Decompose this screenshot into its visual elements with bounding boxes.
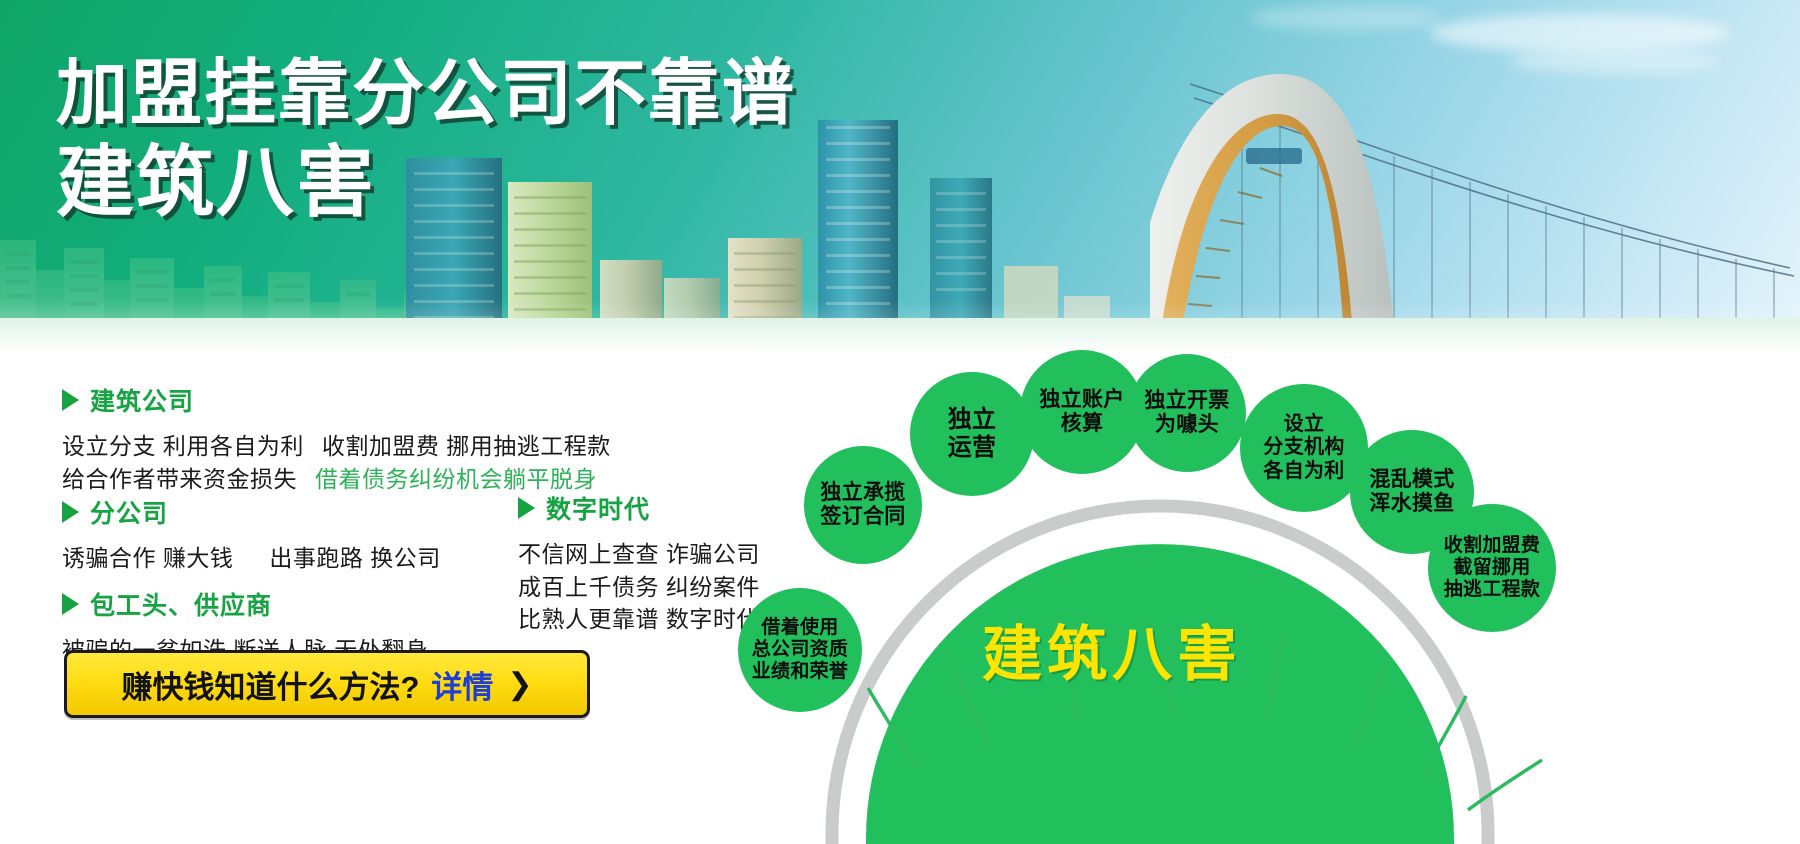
bubble-independent-account[interactable]: 独立账户 核算 (1020, 350, 1144, 474)
body-text-b: 收割加盟费 挪用抽逃工程款 (322, 433, 611, 459)
section-header: 包工头、供应商 (62, 586, 428, 622)
section-title: 建筑公司 (90, 382, 194, 418)
section-header: 分公司 (62, 494, 441, 530)
body-text-a: 诱骗合作 赚大钱 (62, 545, 233, 571)
section-body: 设立分支 利用各自为利收割加盟费 挪用抽逃工程款 给合作者带来资金损失借着债务纠… (62, 430, 611, 495)
bubble-line: 独立 (948, 406, 997, 434)
bubble-line: 独立开票 (1144, 389, 1229, 413)
bubble-line: 分支机构 (1263, 436, 1344, 459)
bubble-line: 总公司资质 (752, 639, 849, 661)
section-construction-company: 建筑公司 设立分支 利用各自为利收割加盟费 挪用抽逃工程款 给合作者带来资金损失… (62, 382, 611, 495)
bubble-line: 独立账户 (1039, 388, 1124, 412)
cta-button[interactable]: 赚快钱知道什么方法? 详情 ❯ (64, 650, 590, 718)
bubble-line: 签订合同 (820, 505, 905, 529)
body-line: 诱骗合作 赚大钱出事跑路 换公司 (62, 542, 441, 575)
section-title: 分公司 (90, 494, 168, 530)
bubble-line: 各自为利 (1263, 460, 1344, 483)
bubble-line: 截留挪用 (1444, 557, 1541, 579)
cloud-shape (1250, 6, 1440, 30)
bubble-line: 独立承揽 (820, 481, 905, 505)
section-body: 不信网上查查 诈骗公司 成百上千债务 纠纷案件 比熟人更靠谱 数字时代 (518, 538, 760, 636)
dome-center-label: 建筑八害 (982, 606, 1242, 693)
bubble-line: 为噱头 (1144, 413, 1229, 437)
section-body: 诱骗合作 赚大钱出事跑路 换公司 (62, 542, 441, 575)
cta-link-label[interactable]: 详情 (431, 662, 493, 707)
left-content-column: 建筑公司 设立分支 利用各自为利收割加盟费 挪用抽逃工程款 给合作者带来资金损失… (0, 382, 830, 844)
bubble-line: 核算 (1039, 412, 1124, 436)
bubble-harvest-fees[interactable]: 收割加盟费 截留挪用 抽逃工程款 (1428, 504, 1556, 632)
bubble-borrow-credentials[interactable]: 借着使用 总公司资质 业绩和荣誉 (738, 588, 862, 712)
hero-banner: 加盟挂靠分公司不靠谱 建筑八害 (0, 0, 1800, 370)
bubble-set-up-branch[interactable]: 设立 分支机构 各自为利 (1240, 384, 1368, 512)
chevron-right-icon: ❯ (507, 667, 532, 702)
bubble-line: 业绩和荣誉 (752, 661, 849, 683)
body-line: 设立分支 利用各自为利收割加盟费 挪用抽逃工程款 (62, 430, 611, 463)
section-title: 数字时代 (546, 490, 650, 526)
bubble-diagram: 借着使用 总公司资质 业绩和荣誉 独立承揽 签订合同 独立 运营 独立账户 核算 (820, 340, 1800, 844)
bubble-line: 设立 (1263, 413, 1344, 436)
triangle-bullet-icon (518, 497, 535, 519)
page-title: 加盟挂靠分公司不靠谱 建筑八害 (56, 58, 796, 223)
poster-root: 加盟挂靠分公司不靠谱 建筑八害 建筑公司 设立分支 利用各自为利收割加盟费 挪用… (0, 0, 1800, 844)
section-header: 建筑公司 (62, 382, 611, 418)
bubble-line: 混乱模式 (1369, 468, 1454, 492)
triangle-bullet-icon (62, 501, 79, 523)
cloud-shape (1430, 14, 1730, 52)
cta-label: 赚快钱知道什么方法? (121, 662, 419, 707)
bubble-independent-invoice[interactable]: 独立开票 为噱头 (1128, 354, 1246, 472)
bubble-line: 借着使用 (752, 617, 849, 639)
body-text-a: 给合作者带来资金损失 (62, 466, 297, 492)
bubble-line: 收割加盟费 (1444, 535, 1541, 557)
bubble-independent-contract[interactable]: 独立承揽 签订合同 (804, 446, 922, 564)
hero-title-line-2: 建筑八害 (56, 143, 796, 223)
triangle-bullet-icon (62, 389, 79, 411)
body-line: 比熟人更靠谱 数字时代 (518, 603, 760, 636)
bubble-independent-operation[interactable]: 独立 运营 (910, 372, 1034, 496)
triangle-bullet-icon (62, 593, 79, 615)
body-line: 不信网上查查 诈骗公司 (518, 538, 760, 571)
body-text-a: 设立分支 利用各自为利 (62, 433, 304, 459)
bubble-line: 运营 (948, 434, 997, 462)
bubble-line: 抽逃工程款 (1444, 579, 1541, 601)
body-text-highlight: 借着债务纠纷机会躺平脱身 (315, 466, 597, 492)
bubble-line: 浑水摸鱼 (1369, 492, 1454, 516)
section-title: 包工头、供应商 (90, 586, 272, 622)
body-text-b: 出事跑路 换公司 (269, 545, 440, 571)
section-header: 数字时代 (518, 490, 760, 526)
section-branch-company: 分公司 诱骗合作 赚大钱出事跑路 换公司 (62, 494, 441, 575)
hero-title-line-1: 加盟挂靠分公司不靠谱 (56, 58, 796, 131)
section-digital-era: 数字时代 不信网上查查 诈骗公司 成百上千债务 纠纷案件 比熟人更靠谱 数字时代 (518, 490, 760, 636)
body-line: 成百上千债务 纠纷案件 (518, 571, 760, 604)
